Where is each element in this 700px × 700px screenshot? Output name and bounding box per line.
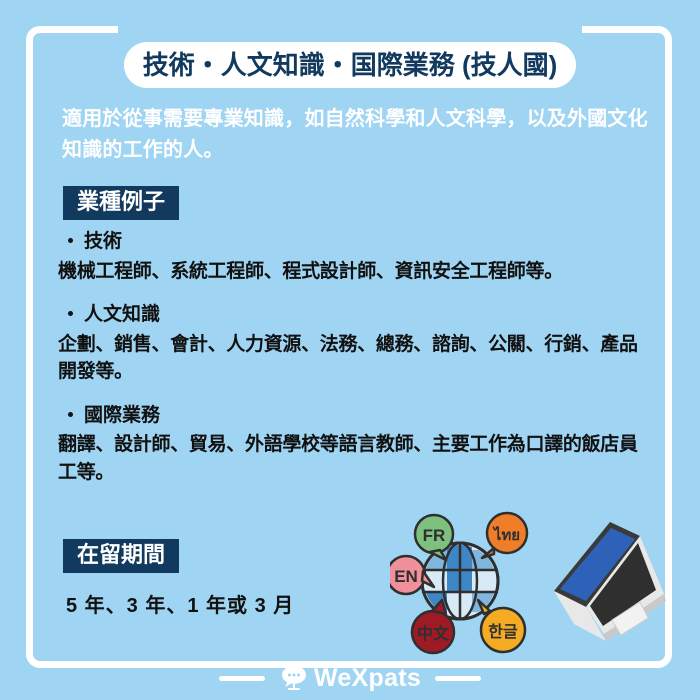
- job-heading-label: 技術: [84, 231, 122, 252]
- job-heading-label: 人文知識: [84, 304, 160, 325]
- svg-text:한글: 한글: [488, 622, 518, 641]
- job-group-heading: 人文知識: [58, 301, 654, 330]
- frame-top-gap: [118, 18, 582, 40]
- footer-rule-left: [219, 676, 265, 681]
- job-heading-label: 國際業務: [84, 405, 160, 426]
- language-bubble-korean: 한글: [478, 600, 525, 652]
- period-value: 5 年、3 年、1 年或 3 月: [66, 589, 294, 618]
- job-group: 國際業務 翻譯、設計師、貿易、外語學校等語言教師、主要工作為口譯的飯店員工等。: [58, 402, 654, 487]
- job-group: 技術 機械工程師、系統工程師、程式設計師、資訊安全工程師等。: [58, 228, 654, 285]
- visa-description: 適用於從事需要專業知識，如自然科學和人文科學，以及外國文化知識的工作的人。: [62, 104, 652, 166]
- job-group-heading: 技術: [58, 228, 654, 257]
- speech-bubble-globe-icon: [279, 663, 309, 693]
- footer-rule-right: [435, 676, 481, 681]
- job-examples-list: 技術 機械工程師、系統工程師、程式設計師、資訊安全工程師等。 人文知識 企劃、銷…: [58, 228, 654, 502]
- infographic-card: 技術・人文知識・国際業務 (技人國) 適用於從事需要專業知識，如自然科學和人文科…: [0, 0, 700, 700]
- svg-text:EN: EN: [394, 567, 418, 586]
- svg-text:FR: FR: [423, 526, 446, 545]
- brand-logo: WeXpats: [279, 663, 421, 693]
- bullet-dot-icon: [68, 311, 73, 316]
- bullet-dot-icon: [68, 412, 73, 417]
- jobs-section-badge: 業種例子: [63, 186, 179, 220]
- job-group-body: 企劃、銷售、會計、人力資源、法務、總務、諮詢、公關、行銷、產品開發等。: [58, 331, 654, 386]
- svg-text:ไทย: ไทย: [492, 525, 520, 544]
- page-title: 技術・人文知識・国際業務 (技人國): [143, 52, 558, 78]
- job-group-body: 機械工程師、系統工程師、程式設計師、資訊安全工程師等。: [58, 258, 654, 286]
- svg-text:中文: 中文: [417, 624, 450, 643]
- job-group-heading: 國際業務: [58, 402, 654, 431]
- title-pill: 技術・人文知識・国際業務 (技人國): [124, 42, 576, 88]
- period-section-badge: 在留期間: [63, 539, 179, 573]
- bullet-dot-icon: [68, 238, 73, 243]
- language-bubble-thai: ไทย: [482, 513, 527, 558]
- footer: WeXpats: [0, 656, 700, 700]
- job-group-body: 翻譯、設計師、貿易、外語學校等語言教師、主要工作為口譯的飯店員工等。: [58, 431, 654, 486]
- laptop-icon: [554, 522, 666, 641]
- globe-languages-laptop-illustration: FR ไทย EN 中文 한글: [390, 508, 670, 656]
- job-group: 人文知識 企劃、銷售、會計、人力資源、法務、總務、諮詢、公關、行銷、產品開發等。: [58, 301, 654, 386]
- brand-name: WeXpats: [314, 666, 421, 691]
